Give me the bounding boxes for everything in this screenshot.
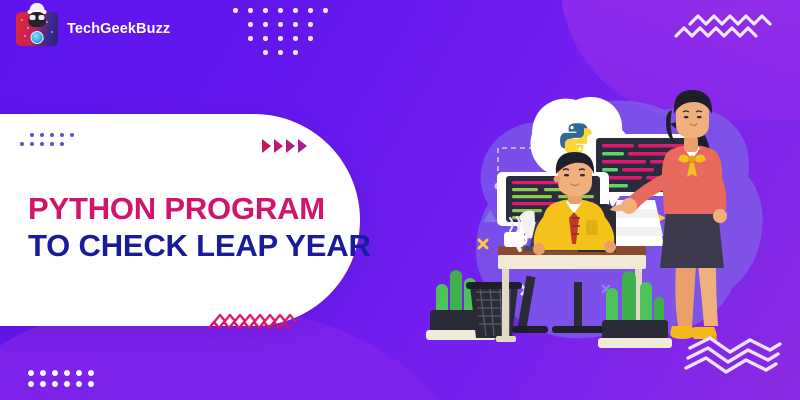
zigzag-icon	[672, 12, 784, 46]
dot-grid-icon	[20, 133, 80, 151]
zigzag-icon	[205, 312, 301, 332]
chevron-right-icon	[262, 139, 307, 153]
brand-logo[interactable]: TechGeekBuzz	[16, 12, 170, 46]
dot-grid-icon	[28, 370, 100, 392]
title-line-2: TO CHECK LEAP YEAR	[28, 229, 371, 262]
python-developers-workspace-illustration	[426, 86, 800, 354]
techgeekbuzz-logo-icon	[16, 12, 58, 46]
title-line-1: PYTHON PROGRAM	[28, 192, 371, 225]
logo-disc-icon	[31, 31, 44, 44]
zigzag-icon	[682, 336, 786, 378]
triangle-dot-grid-icon	[233, 8, 338, 64]
brand-name: TechGeekBuzz	[67, 21, 170, 37]
banner-container: TechGeekBuzz PYTHON PROGRAM TO C	[0, 0, 800, 400]
page-title: PYTHON PROGRAM TO CHECK LEAP YEAR	[28, 192, 371, 263]
mascot-icon	[29, 3, 46, 31]
